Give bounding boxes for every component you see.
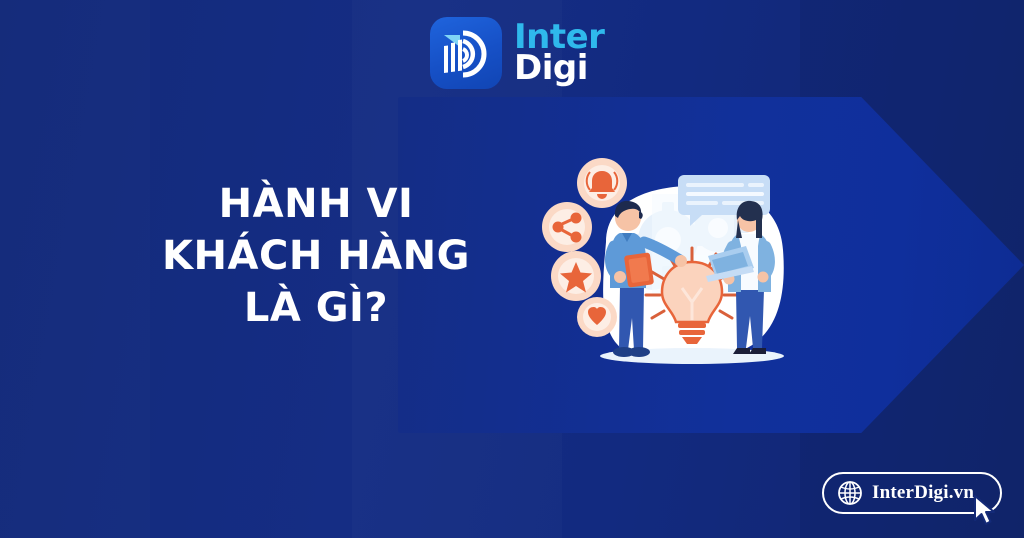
cursor-arrow-icon <box>972 494 998 526</box>
badge-bell <box>577 158 627 208</box>
badge-star <box>551 251 601 301</box>
badge-heart <box>577 297 617 337</box>
brand-logo[interactable]: Inter Digi <box>430 17 604 89</box>
headline-line-3: LÀ GÌ? <box>60 282 572 334</box>
headline-line-1: HÀNH VI <box>60 178 572 230</box>
logo-mark-icon <box>430 17 502 89</box>
logo-d-glyph <box>430 17 502 89</box>
banner: Inter Digi HÀNH VI KHÁCH HÀNG LÀ GÌ? <box>0 0 1024 538</box>
page-title: HÀNH VI KHÁCH HÀNG LÀ GÌ? <box>60 178 572 334</box>
headline-line-2: KHÁCH HÀNG <box>60 230 572 282</box>
globe-icon <box>837 480 863 506</box>
logo-wordmark: Inter Digi <box>514 22 604 85</box>
illustration-svg <box>540 150 840 390</box>
logo-text-digi: Digi <box>514 53 604 84</box>
customer-behaviour-illustration <box>540 150 840 390</box>
badge-share <box>542 202 592 252</box>
site-badge-label: InterDigi.vn <box>872 482 974 504</box>
